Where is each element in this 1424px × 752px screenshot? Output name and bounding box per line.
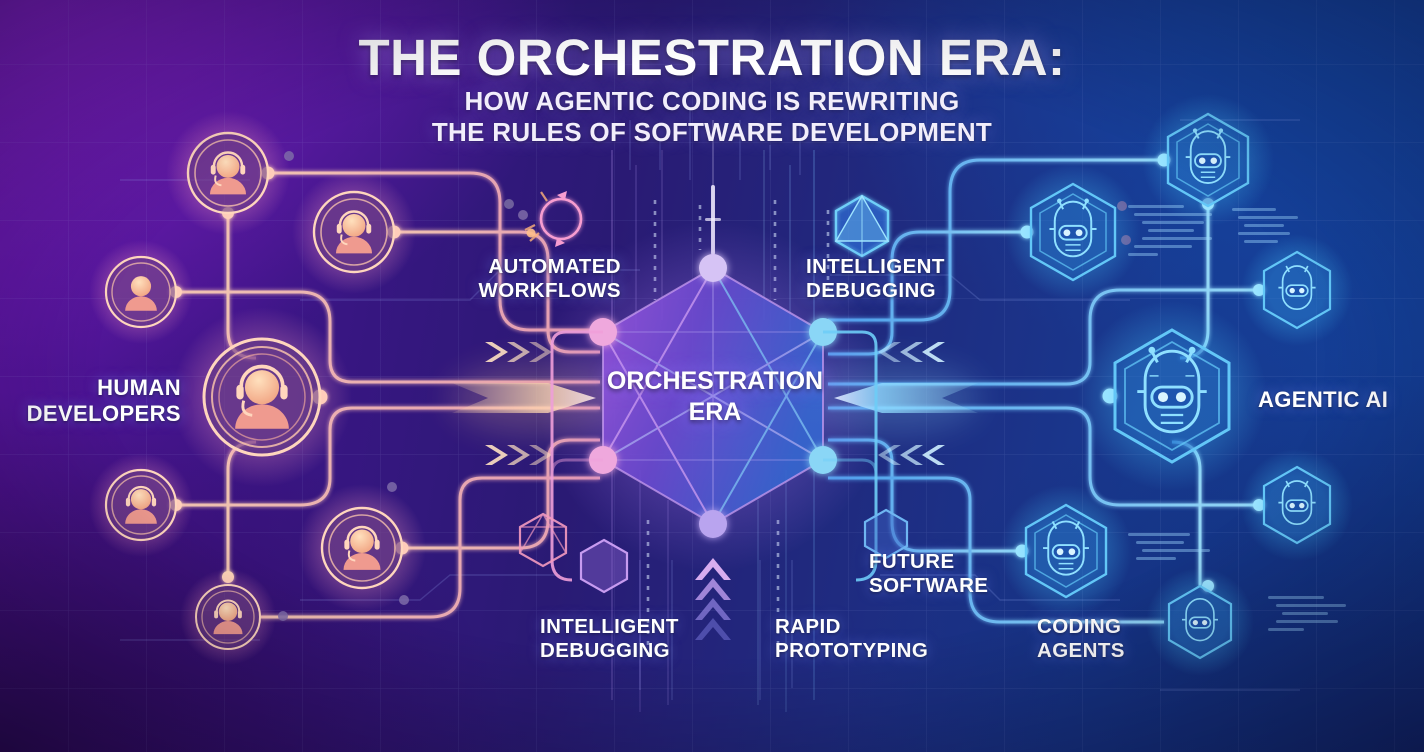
hub-label-line-2: ERA [590, 397, 840, 428]
robot-head-icon [1077, 301, 1267, 491]
label-line: FUTURE [869, 550, 988, 574]
label-line: AGENTS [1037, 639, 1125, 663]
label-line: INTELLIGENT [806, 255, 945, 279]
label-line: DEVELOPERS [27, 401, 181, 427]
subtitle-line-2: THE RULES OF SOFTWARE DEVELOPMENT [0, 117, 1424, 148]
hub-label-line-1: ORCHESTRATION [590, 366, 840, 397]
label-line: HUMAN [27, 375, 181, 401]
label-intelligent-debugging-bottom: INTELLIGENT DEBUGGING [540, 615, 679, 663]
infographic-canvas: THE ORCHESTRATION ERA: HOW AGENTIC CODIN… [0, 0, 1424, 752]
page-title: THE ORCHESTRATION ERA: [0, 28, 1424, 87]
robot-head-icon [1241, 449, 1353, 561]
person-headset-icon [89, 240, 193, 344]
person-headset-icon [89, 453, 193, 557]
label-line: AUTOMATED [478, 255, 621, 279]
robot-head-icon [1005, 164, 1141, 300]
label-line: DEBUGGING [806, 279, 945, 303]
label-human-developers: HUMAN DEVELOPERS [27, 375, 181, 427]
label-rapid-prototyping: RAPID PROTOTYPING [775, 615, 928, 663]
label-line: PROTOTYPING [775, 639, 928, 663]
label-agentic-ai: AGENTIC AI [1258, 387, 1388, 413]
person-headset-icon [172, 307, 352, 487]
page-subtitle: HOW AGENTIC CODING IS REWRITING THE RULE… [0, 86, 1424, 147]
robot-head-icon [1000, 485, 1132, 617]
label-line: CODING [1037, 615, 1125, 639]
hub-label: ORCHESTRATION ERA [590, 366, 840, 427]
label-line: AGENTIC AI [1258, 387, 1388, 413]
label-intelligent-debugging-top: INTELLIGENT DEBUGGING [806, 255, 945, 303]
label-automated-workflows: AUTOMATED WORKFLOWS [478, 255, 621, 303]
hexagon-gem-icon [836, 196, 888, 256]
label-future-software: FUTURE SOFTWARE [869, 550, 988, 598]
person-headset-icon [180, 569, 276, 665]
label-line: RAPID [775, 615, 928, 639]
robot-head-icon [1146, 568, 1254, 676]
small-hexagon-decor-left [581, 540, 627, 592]
label-coding-agents: CODING AGENTS [1037, 615, 1125, 663]
person-headset-icon [292, 170, 416, 294]
label-line: SOFTWARE [869, 574, 988, 598]
subtitle-line-1: HOW AGENTIC CODING IS REWRITING [0, 86, 1424, 117]
label-line: WORKFLOWS [478, 279, 621, 303]
label-line: INTELLIGENT [540, 615, 679, 639]
circular-arrows-icon [525, 191, 581, 247]
label-line: DEBUGGING [540, 639, 679, 663]
person-headset-icon [298, 484, 426, 612]
robot-head-icon [1241, 234, 1353, 346]
